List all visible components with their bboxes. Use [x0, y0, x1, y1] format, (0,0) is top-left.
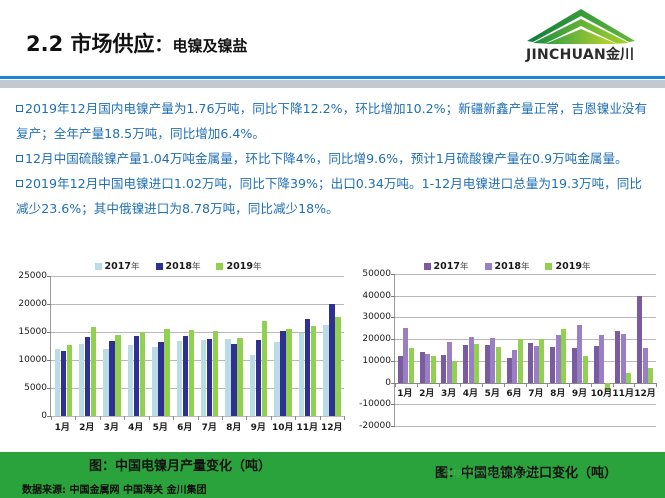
bar-group — [124, 276, 148, 416]
bar — [164, 329, 169, 416]
x-axis-label: 2月 — [75, 420, 100, 433]
bar-group — [295, 276, 319, 416]
x-axis-label: 1月 — [394, 386, 416, 399]
bar — [441, 355, 446, 382]
x-axis-label: 9月 — [569, 386, 591, 399]
watermark: http://www.jnmc.com — [445, 466, 541, 478]
x-axis-label: 10月 — [271, 420, 296, 433]
bar — [539, 339, 544, 383]
bar — [409, 348, 414, 383]
bar — [134, 336, 139, 416]
page-title-sub: 电镍及镍盐 — [173, 37, 248, 55]
x-axis-tick — [656, 383, 657, 387]
x-axis-label: 7月 — [197, 420, 222, 433]
legend-item: 2017年 — [424, 260, 469, 272]
jinchuan-logo: JINCHUAN金川 — [511, 8, 649, 68]
bullet-text: 2019年12月中国电镍进口1.02万吨，同比下降39%；出口0.34万吨。1-… — [16, 176, 642, 216]
bar — [621, 334, 626, 383]
bar-group — [246, 276, 270, 416]
x-axis-label: 4月 — [124, 420, 149, 433]
header-divider-gray — [0, 80, 665, 88]
page-title-colon: ： — [155, 35, 173, 56]
bar — [643, 348, 648, 382]
x-axis-label: 11月 — [612, 386, 634, 399]
bar — [528, 343, 533, 383]
bar-group — [526, 274, 548, 426]
bullet-text: 2019年12月国内电镍产量为1.76万吨，同比下降12.2%，环比增加10.2… — [16, 101, 647, 141]
bar — [201, 340, 206, 416]
logo-text-en: JINCHUAN — [526, 47, 606, 63]
legend-swatch-icon — [95, 263, 102, 270]
bar — [103, 349, 108, 416]
bar — [305, 319, 310, 416]
legend-item: 2019年 — [216, 260, 261, 272]
bar — [61, 351, 66, 416]
bar-group — [613, 274, 635, 426]
chart-x-axis-labels: 1月2月3月4月5月6月7月8月9月10月11月12月 — [50, 420, 344, 433]
bar — [237, 338, 242, 416]
bar — [648, 368, 653, 382]
bar — [599, 335, 604, 382]
y-axis-label: 0 — [385, 378, 391, 388]
bar — [299, 333, 304, 416]
bar — [518, 339, 523, 382]
x-axis-label: 9月 — [246, 420, 271, 433]
bar — [583, 356, 588, 383]
legend-item: 2018年 — [485, 260, 530, 272]
y-axis-label: 10000 — [362, 356, 391, 366]
bar — [452, 361, 457, 382]
x-axis-label: 11月 — [295, 420, 320, 433]
bar — [329, 304, 334, 416]
legend-swatch-icon — [485, 263, 492, 270]
header-divider-blue — [0, 76, 665, 79]
x-axis-label: 10月 — [590, 386, 612, 399]
bar — [79, 344, 84, 416]
x-axis-label: 4月 — [459, 386, 481, 399]
bar-group — [149, 276, 173, 416]
y-axis-label: 20000 — [18, 299, 47, 309]
bar — [274, 342, 279, 416]
bar — [431, 356, 436, 382]
bar-group — [439, 274, 461, 426]
legend-item: 2019年 — [545, 260, 590, 272]
bar-group — [100, 276, 124, 416]
bar — [425, 354, 430, 383]
x-axis-label: 12月 — [634, 386, 656, 399]
x-axis-label: 7月 — [525, 386, 547, 399]
legend-label: 2019年 — [555, 260, 590, 272]
bullet-item: 12月中国硫酸镍产量1.04万吨金属量，环比下降4%，同比增9.6%，预计1月硫… — [16, 146, 652, 171]
mountain-logo-icon — [525, 8, 637, 44]
bar — [550, 347, 555, 382]
bar — [91, 327, 96, 416]
x-axis-tick — [344, 416, 345, 420]
legend-swatch-icon — [216, 263, 223, 270]
grid-line — [395, 426, 656, 427]
bar — [67, 345, 72, 416]
chart-legend: 2017年2018年2019年 — [6, 258, 350, 274]
bar — [490, 338, 495, 382]
page-title-main: 2.2 市场供应 — [26, 32, 155, 56]
slide-header: 2.2 市场供应：电镍及镍盐 JINCHUAN金川 — [0, 0, 665, 76]
chart-x-axis-labels: 1月2月3月4月5月6月7月8月9月10月11月12月 — [394, 386, 656, 399]
x-axis-label: 5月 — [481, 386, 503, 399]
bullet-item: 2019年12月中国电镍进口1.02万吨，同比下降39%；出口0.34万吨。1-… — [16, 171, 652, 221]
legend-swatch-icon — [424, 263, 431, 270]
bullet-square-icon — [16, 155, 23, 162]
bar — [115, 335, 120, 416]
logo-wordmark: JINCHUAN金川 — [511, 44, 649, 64]
bar — [207, 339, 212, 416]
bar — [561, 329, 566, 383]
legend-label: 2017年 — [434, 260, 469, 272]
y-axis-label: 15000 — [18, 327, 47, 337]
y-axis-label: 20000 — [362, 334, 391, 344]
legend-label: 2018年 — [166, 260, 201, 272]
bar — [213, 331, 218, 416]
x-axis-label: 8月 — [222, 420, 247, 433]
source-line: 数据来源: 中国金属网 中国海关 金川集团 — [22, 481, 206, 496]
bar — [280, 331, 285, 416]
bar — [158, 342, 163, 416]
legend-item: 2018年 — [156, 260, 201, 272]
bar — [469, 337, 474, 383]
bar-group — [591, 274, 613, 426]
bar — [572, 348, 577, 382]
chart-production: 2017年2018年2019年 050001000015000200002500… — [6, 258, 350, 440]
bar — [512, 350, 517, 383]
bar — [128, 345, 133, 416]
legend-swatch-icon — [156, 263, 163, 270]
logo-text-cn: 金川 — [606, 47, 634, 63]
bar — [496, 347, 501, 382]
chart-plot-area: 0500010000150002000025000 — [50, 276, 344, 416]
bar — [189, 330, 194, 416]
bar-group — [482, 274, 504, 426]
caption-left: 图：中国电镍月产量变化（吨） — [40, 455, 320, 474]
bar — [177, 341, 182, 416]
legend-label: 2018年 — [495, 260, 530, 272]
legend-label: 2017年 — [105, 260, 140, 272]
x-axis-label: 8月 — [547, 386, 569, 399]
bar-group — [320, 276, 344, 416]
bar-group — [75, 276, 99, 416]
bar — [556, 335, 561, 383]
bar — [534, 346, 539, 382]
bar — [225, 339, 230, 416]
bullet-item: 2019年12月国内电镍产量为1.76万吨，同比下降12.2%，环比增加10.2… — [16, 96, 652, 146]
y-axis-label: 0 — [41, 411, 47, 421]
bar — [577, 325, 582, 383]
bar — [140, 332, 145, 416]
y-axis-label: 25000 — [18, 271, 47, 281]
bar-group — [569, 274, 591, 426]
chart-plot-area: -20000-1000001000020000300004000050000 — [394, 274, 656, 426]
legend-swatch-icon — [545, 263, 552, 270]
x-axis-label: 6月 — [173, 420, 198, 433]
bar — [256, 340, 261, 416]
bar — [109, 341, 114, 416]
bar-group — [173, 276, 197, 416]
bar — [231, 344, 236, 416]
bar — [262, 321, 267, 416]
bar — [474, 344, 479, 383]
bar — [55, 349, 60, 416]
bar-group — [547, 274, 569, 426]
bar-groups — [51, 276, 344, 416]
y-axis-label: -20000 — [359, 421, 391, 431]
y-axis-label: 5000 — [24, 383, 47, 393]
bar-group — [634, 274, 656, 426]
bar-group — [271, 276, 295, 416]
bar — [626, 373, 631, 382]
bullet-text: 12月中国硫酸镍产量1.04万吨金属量，环比下降4%，同比增9.6%，预计1月硫… — [25, 151, 628, 166]
bar — [398, 356, 403, 383]
bar-group — [51, 276, 75, 416]
bar — [507, 358, 512, 383]
bar — [637, 296, 642, 383]
x-axis-label: 5月 — [148, 420, 173, 433]
bar-group — [504, 274, 526, 426]
chart-legend: 2017年2018年2019年 — [352, 258, 662, 274]
bar — [335, 317, 340, 416]
bar-group — [460, 274, 482, 426]
bar — [615, 331, 620, 383]
bar-group — [395, 274, 417, 426]
chart-net-import: 2017年2018年2019年 -20000-10000010000200003… — [352, 258, 662, 440]
bullet-square-icon — [16, 105, 23, 112]
x-axis-label: 6月 — [503, 386, 525, 399]
bar-group — [417, 274, 439, 426]
x-axis-label: 12月 — [320, 420, 345, 433]
y-axis-tick — [391, 426, 395, 427]
bullet-list: 2019年12月国内电镍产量为1.76万吨，同比下降12.2%，环比增加10.2… — [16, 96, 652, 221]
bar — [85, 337, 90, 416]
bar — [420, 352, 425, 383]
x-axis-label: 3月 — [99, 420, 124, 433]
page-title: 2.2 市场供应：电镍及镍盐 — [26, 28, 248, 58]
y-axis-label: -10000 — [359, 399, 391, 409]
x-axis-label: 1月 — [50, 420, 75, 433]
bar — [403, 328, 408, 383]
x-axis-label: 2月 — [416, 386, 438, 399]
y-axis-label: 50000 — [362, 269, 391, 279]
bar — [311, 326, 316, 416]
bar — [594, 346, 599, 382]
bar-groups — [395, 274, 656, 426]
bar — [323, 325, 328, 416]
bar-group — [222, 276, 246, 416]
x-axis-label: 3月 — [438, 386, 460, 399]
bar — [152, 347, 157, 416]
bar — [485, 345, 490, 383]
bar-group — [198, 276, 222, 416]
bar — [250, 355, 255, 416]
legend-item: 2017年 — [95, 260, 140, 272]
y-axis-label: 40000 — [362, 291, 391, 301]
legend-label: 2019年 — [226, 260, 261, 272]
bar — [286, 329, 291, 416]
y-axis-label: 10000 — [18, 355, 47, 365]
y-axis-label: 30000 — [362, 312, 391, 322]
bar — [183, 336, 188, 416]
bar — [447, 342, 452, 382]
bar — [463, 345, 468, 383]
bullet-square-icon — [16, 180, 23, 187]
